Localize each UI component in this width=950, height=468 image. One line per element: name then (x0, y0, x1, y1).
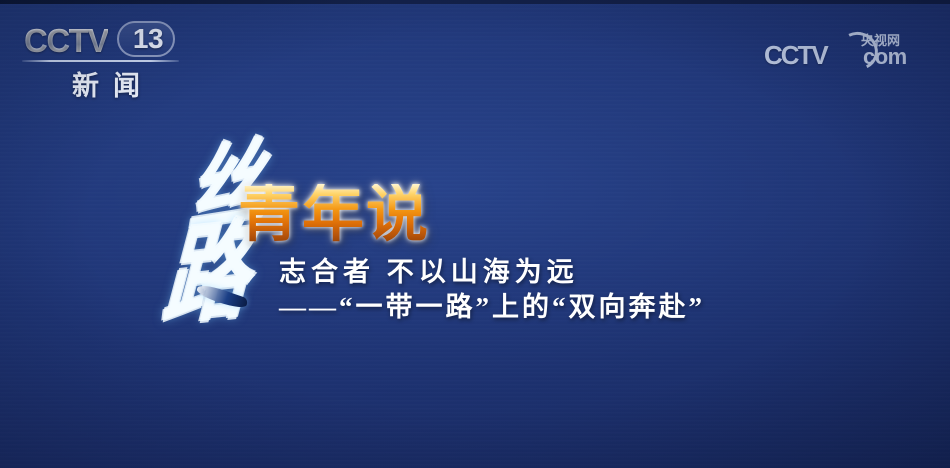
program-title: 青年说 (238, 184, 430, 246)
watermark-cctv-wordmark: CCTV (764, 40, 827, 71)
subtitle-block: 志合者 不以山海为远 ——“一带一路”上的“双向奔赴” (279, 255, 705, 325)
watermark-tld: com (863, 44, 907, 70)
broadcast-title-card: CCTV 13 新闻 CCTV 央视网 com 丝 路 青年说 志合者 不以山海… (0, 0, 950, 468)
subtitle-line-1: 志合者 不以山海为远 (279, 255, 705, 289)
logo-divider-line (22, 60, 179, 62)
top-letterbox-strip (0, 0, 950, 4)
subtitle-line-2: ——“一带一路”上的“双向奔赴” (279, 289, 705, 325)
channel-name-label: 新闻 (36, 64, 176, 103)
cctv-com-watermark: CCTV 央视网 com (764, 30, 914, 76)
cctv13-channel-bug: CCTV 13 新闻 (22, 22, 192, 96)
channel-number: 13 (126, 23, 170, 55)
cctv-wordmark: CCTV (24, 22, 108, 60)
